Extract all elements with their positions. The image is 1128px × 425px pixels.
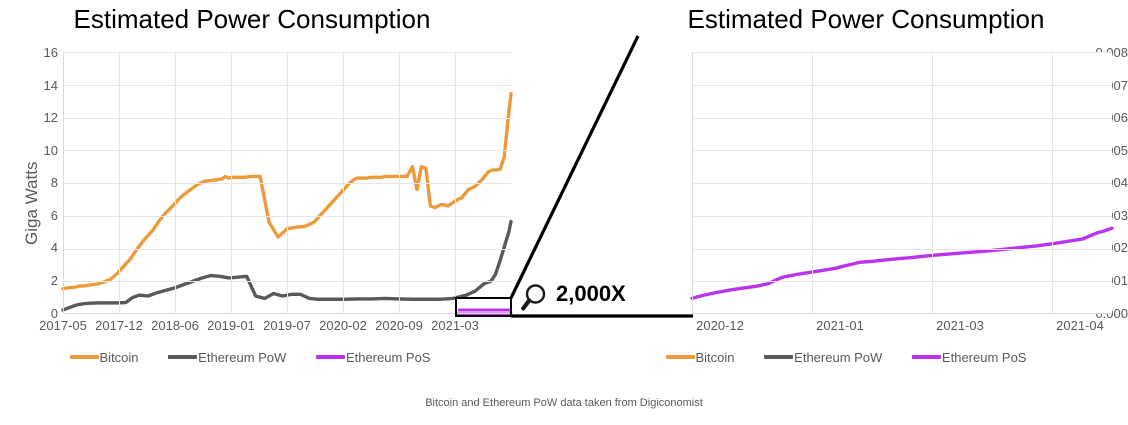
legend-swatch-ethereum-pow xyxy=(764,355,793,359)
y-axis-ticks-left: 16 14 12 10 8 6 4 2 0 xyxy=(0,0,58,372)
legend-item-ethereum-pow[interactable]: Ethereum PoW xyxy=(764,349,882,365)
gridline-vertical xyxy=(231,52,232,314)
series-line-ethereum-pos xyxy=(692,228,1112,298)
gridline-vertical xyxy=(812,52,813,314)
gridline xyxy=(692,183,1112,184)
x-tick: 2020-02 xyxy=(319,318,367,333)
y-tick: 10 xyxy=(44,144,58,157)
chart-title-left: Estimated Power Consumption xyxy=(0,2,564,36)
zoom-factor-label: 2,000X xyxy=(556,281,626,307)
gridline xyxy=(692,281,1112,282)
y-tick: 14 xyxy=(44,79,58,92)
gridline xyxy=(692,216,1112,217)
legend-swatch-ethereum-pow xyxy=(168,355,197,359)
gridline xyxy=(692,150,1112,151)
legend-item-ethereum-pos[interactable]: Ethereum PoS xyxy=(912,349,1027,365)
legend-label-bitcoin: Bitcoin xyxy=(696,350,735,365)
legend-label-ethereum-pos: Ethereum PoS xyxy=(942,350,1027,365)
legend-label-ethereum-pos: Ethereum PoS xyxy=(346,350,431,365)
y-axis-line xyxy=(692,52,693,314)
gridline xyxy=(692,52,1112,53)
legend-item-bitcoin[interactable]: Bitcoin xyxy=(666,349,735,365)
gridline-vertical xyxy=(175,52,176,314)
plot-area-left xyxy=(63,52,511,314)
y-axis-line xyxy=(63,52,64,314)
gridline-vertical xyxy=(119,52,120,314)
legend-label-ethereum-pow: Ethereum PoW xyxy=(198,350,286,365)
gridline xyxy=(692,249,1112,250)
legend-right: Bitcoin Ethereum PoW Ethereum PoS xyxy=(564,348,1128,365)
x-tick: 2017-12 xyxy=(95,318,143,333)
gridline-vertical xyxy=(455,52,456,314)
legend-left: Bitcoin Ethereum PoW Ethereum PoS xyxy=(0,348,532,365)
y-tick: 12 xyxy=(44,111,58,124)
x-tick: 2020-09 xyxy=(375,318,423,333)
x-axis-line xyxy=(692,313,1112,314)
legend-swatch-ethereum-pos xyxy=(912,355,941,359)
x-tick: 2021-01 xyxy=(816,318,864,333)
power-consumption-figure: Estimated Power Consumption Giga Watts 1… xyxy=(0,0,1128,425)
x-tick: 2017-05 xyxy=(39,318,87,333)
y-tick: 16 xyxy=(44,46,58,59)
x-tick: 2019-07 xyxy=(263,318,311,333)
y-tick: 2 xyxy=(51,274,58,287)
chart-panel-left: Estimated Power Consumption Giga Watts 1… xyxy=(0,0,564,372)
legend-item-bitcoin[interactable]: Bitcoin xyxy=(70,349,139,365)
x-tick: 2021-04 xyxy=(1056,318,1104,333)
gridline xyxy=(692,85,1112,86)
gridline-vertical xyxy=(399,52,400,314)
legend-swatch-bitcoin xyxy=(70,355,99,359)
y-tick: 4 xyxy=(51,241,58,254)
y-tick: 8 xyxy=(51,176,58,189)
legend-label-ethereum-pow: Ethereum PoW xyxy=(794,350,882,365)
chart-title-right: Estimated Power Consumption xyxy=(564,2,1128,36)
legend-item-ethereum-pos[interactable]: Ethereum PoS xyxy=(316,349,431,365)
x-tick: 2018-06 xyxy=(151,318,199,333)
legend-swatch-bitcoin xyxy=(666,355,695,359)
x-tick: 2019-01 xyxy=(207,318,255,333)
x-tick: 2020-12 xyxy=(696,318,744,333)
plot-area-right xyxy=(692,52,1112,314)
x-axis-line xyxy=(63,313,511,314)
gridline xyxy=(692,118,1112,119)
gridline-vertical xyxy=(1052,52,1053,314)
legend-item-ethereum-pow[interactable]: Ethereum PoW xyxy=(168,349,286,365)
gridline-vertical xyxy=(932,52,933,314)
magnifier-icon xyxy=(521,281,555,315)
gridline-vertical xyxy=(287,52,288,314)
y-tick: 6 xyxy=(51,209,58,222)
x-tick: 2021-03 xyxy=(936,318,984,333)
footnote: Bitcoin and Ethereum PoW data taken from… xyxy=(0,397,1128,409)
x-tick: 2021-03 xyxy=(431,318,479,333)
gridline-vertical xyxy=(343,52,344,314)
legend-swatch-ethereum-pos xyxy=(316,355,345,359)
legend-label-bitcoin: Bitcoin xyxy=(100,350,139,365)
